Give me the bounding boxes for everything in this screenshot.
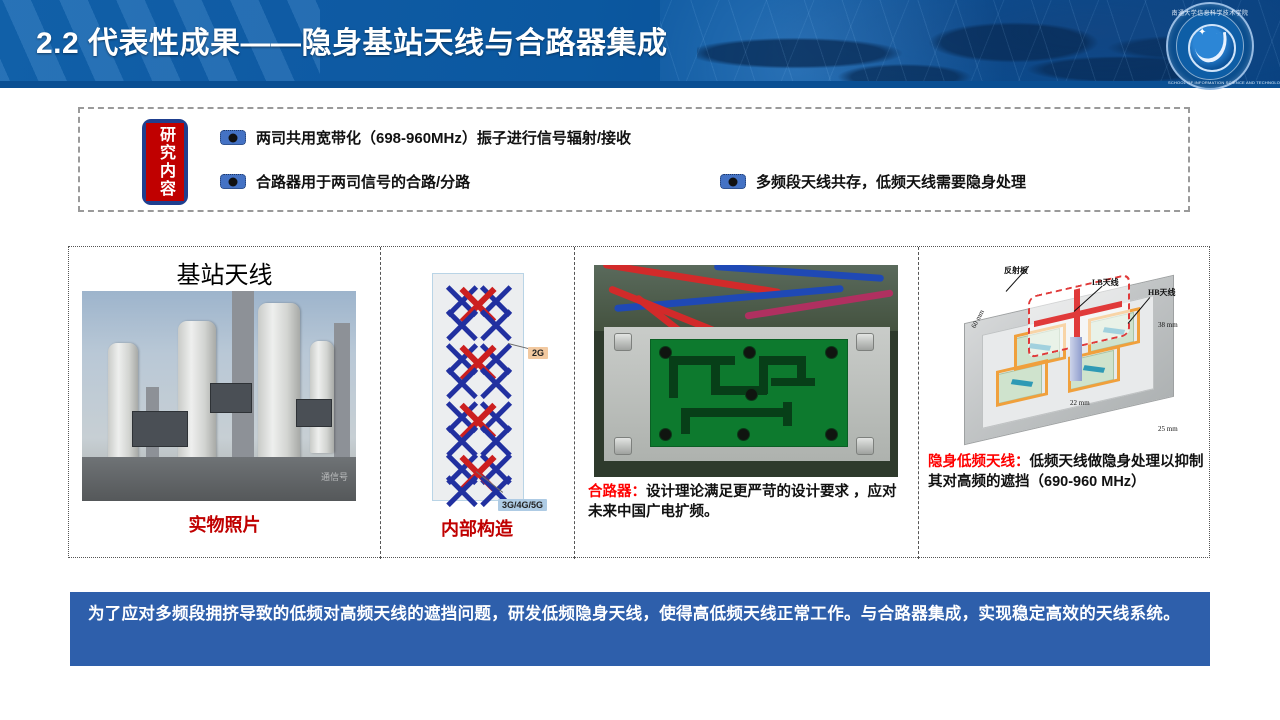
slide-header: 2.2 代表性成果——隐身基站天线与合路器集成 <box>0 0 1280 88</box>
blue-cable <box>714 265 884 282</box>
research-content-box: 研究内容 两司共用宽带化（698-960MHz）振子进行信号辐射/接收 合路器用… <box>78 107 1190 212</box>
pcb-mount-hole <box>745 388 758 401</box>
bolt <box>856 437 874 455</box>
panel-combiner-caption: 合路器：设计理论满足更严苛的设计要求 ，应对未来中国广电扩频。 <box>588 483 906 522</box>
label-reflector: 反射板 <box>1004 265 1028 276</box>
dipole-element-blue <box>443 306 481 344</box>
pcb-trace <box>681 408 690 434</box>
pcb-board <box>650 339 848 447</box>
tower-mast <box>334 323 350 479</box>
panel-combiner: 合路器：设计理论满足更严苛的设计要求 ，应对未来中国广电扩频。 <box>574 247 918 559</box>
panel-internal-structure: 2G 3G/4G/5G 内部构造 <box>380 247 574 559</box>
stealth-antenna-3d-model: 反射板 LB天线 HB天线 60 mm 38 mm 22 mm 25 mm <box>942 259 1198 449</box>
antenna-radome <box>258 303 300 469</box>
equipment-box <box>296 399 332 427</box>
bolt <box>856 333 874 351</box>
conclusion-text: 为了应对多频段拥挤导致的低频对高频天线的遮挡问题，研发低频隐身天线，使得高低频天… <box>88 602 1192 628</box>
label-hb-antenna: HB天线 <box>1148 287 1176 298</box>
main-content-panel: 基站天线 通信号 实物照片 <box>68 246 1210 558</box>
panel-antenna-caption: 实物照片 <box>69 511 380 537</box>
panel-stealth-antenna: 反射板 LB天线 HB天线 60 mm 38 mm 22 mm 25 mm 隐身… <box>918 247 1210 559</box>
label-2g: 2G <box>528 347 548 359</box>
pcb-mount-hole <box>825 346 838 359</box>
combiner-photo <box>594 265 898 477</box>
equipment-box <box>132 411 188 447</box>
research-tag-label: 研究内容 <box>157 126 173 198</box>
pcb-mount-hole <box>737 428 750 441</box>
antenna-array-diagram <box>432 273 524 501</box>
label-lb-antenna: LB天线 <box>1092 277 1119 288</box>
panel-antenna-title: 基站天线 <box>69 255 380 290</box>
research-bullet-1: 两司共用宽带化（698-960MHz）振子进行信号辐射/接收 <box>220 127 631 148</box>
pcb-mount-hole <box>743 346 756 359</box>
pcb-background <box>594 265 898 331</box>
university-logo: 南通大学信息科学技术学院 ✦ SCHOOL OF INFORMATION SCI… <box>1166 2 1254 90</box>
dipole-element-blue <box>443 364 481 402</box>
lb-feed-structure <box>1070 337 1082 381</box>
pcb-trace <box>771 378 815 386</box>
bullet-marker-icon <box>720 174 746 189</box>
dimension-38mm: 38 mm <box>1158 321 1178 329</box>
research-content-tag: 研究内容 <box>142 119 188 205</box>
antenna-radome <box>310 341 334 453</box>
metal-plate <box>604 327 890 461</box>
tower-platform <box>82 457 356 501</box>
dimension-22mm: 22 mm <box>1070 399 1090 407</box>
photo-watermark: 通信号 <box>321 470 348 483</box>
panel-structure-caption: 内部构造 <box>380 515 574 541</box>
pcb-mount-hole <box>825 428 838 441</box>
pcb-trace <box>669 356 735 365</box>
dipole-element-blue <box>477 364 515 402</box>
dipole-element-blue <box>477 306 515 344</box>
slide-root: 2.2 代表性成果——隐身基站天线与合路器集成 南通大学信息科学技术学院 ✦ S… <box>0 0 1280 720</box>
logo-english-text: SCHOOL OF INFORMATION SCIENCE AND TECHNO… <box>1168 80 1252 85</box>
research-bullet-3-text: 多频段天线共存，低频天线需要隐身处理 <box>756 171 1026 192</box>
panel-stealth-caption: 隐身低频天线：低频天线做隐身处理以抑制其对高频的遮挡（690-960 MHz） <box>928 453 1206 492</box>
pcb-trace <box>783 402 792 426</box>
base-station-photo: 通信号 <box>82 291 356 501</box>
dimension-25mm: 25 mm <box>1158 425 1178 433</box>
combiner-caption-key: 合路器： <box>588 484 646 500</box>
pcb-trace <box>681 408 791 417</box>
stealth-caption-key: 隐身低频天线： <box>928 454 1030 470</box>
research-bullet-2: 合路器用于两司信号的合路/分路 <box>220 171 470 192</box>
panel-base-station-antenna: 基站天线 通信号 实物照片 <box>69 247 380 559</box>
pcb-trace <box>669 356 678 398</box>
research-bullet-1-text: 两司共用宽带化（698-960MHz）振子进行信号辐射/接收 <box>256 127 631 148</box>
header-underline <box>0 81 1280 88</box>
dipole-element-blue <box>443 472 481 510</box>
page-title: 2.2 代表性成果——隐身基站天线与合路器集成 <box>36 18 668 62</box>
bolt <box>614 437 632 455</box>
bullet-marker-icon <box>220 130 246 145</box>
research-bullet-3: 多频段天线共存，低频天线需要隐身处理 <box>720 171 1026 192</box>
research-tag-inner: 研究内容 <box>146 123 184 201</box>
pcb-mount-hole <box>659 346 672 359</box>
logo-chinese-text: 南通大学信息科学技术学院 <box>1168 8 1252 17</box>
label-3g-4g-5g: 3G/4G/5G <box>498 499 547 511</box>
logo-star-icon: ✦ <box>1198 28 1206 38</box>
research-bullet-2-text: 合路器用于两司信号的合路/分路 <box>256 171 470 192</box>
bullet-marker-icon <box>220 174 246 189</box>
bolt <box>614 333 632 351</box>
equipment-box <box>210 383 252 413</box>
conclusion-box: 为了应对多频段拥挤导致的低频对高频天线的遮挡问题，研发低频隐身天线，使得高低频天… <box>70 592 1210 666</box>
pcb-mount-hole <box>659 428 672 441</box>
